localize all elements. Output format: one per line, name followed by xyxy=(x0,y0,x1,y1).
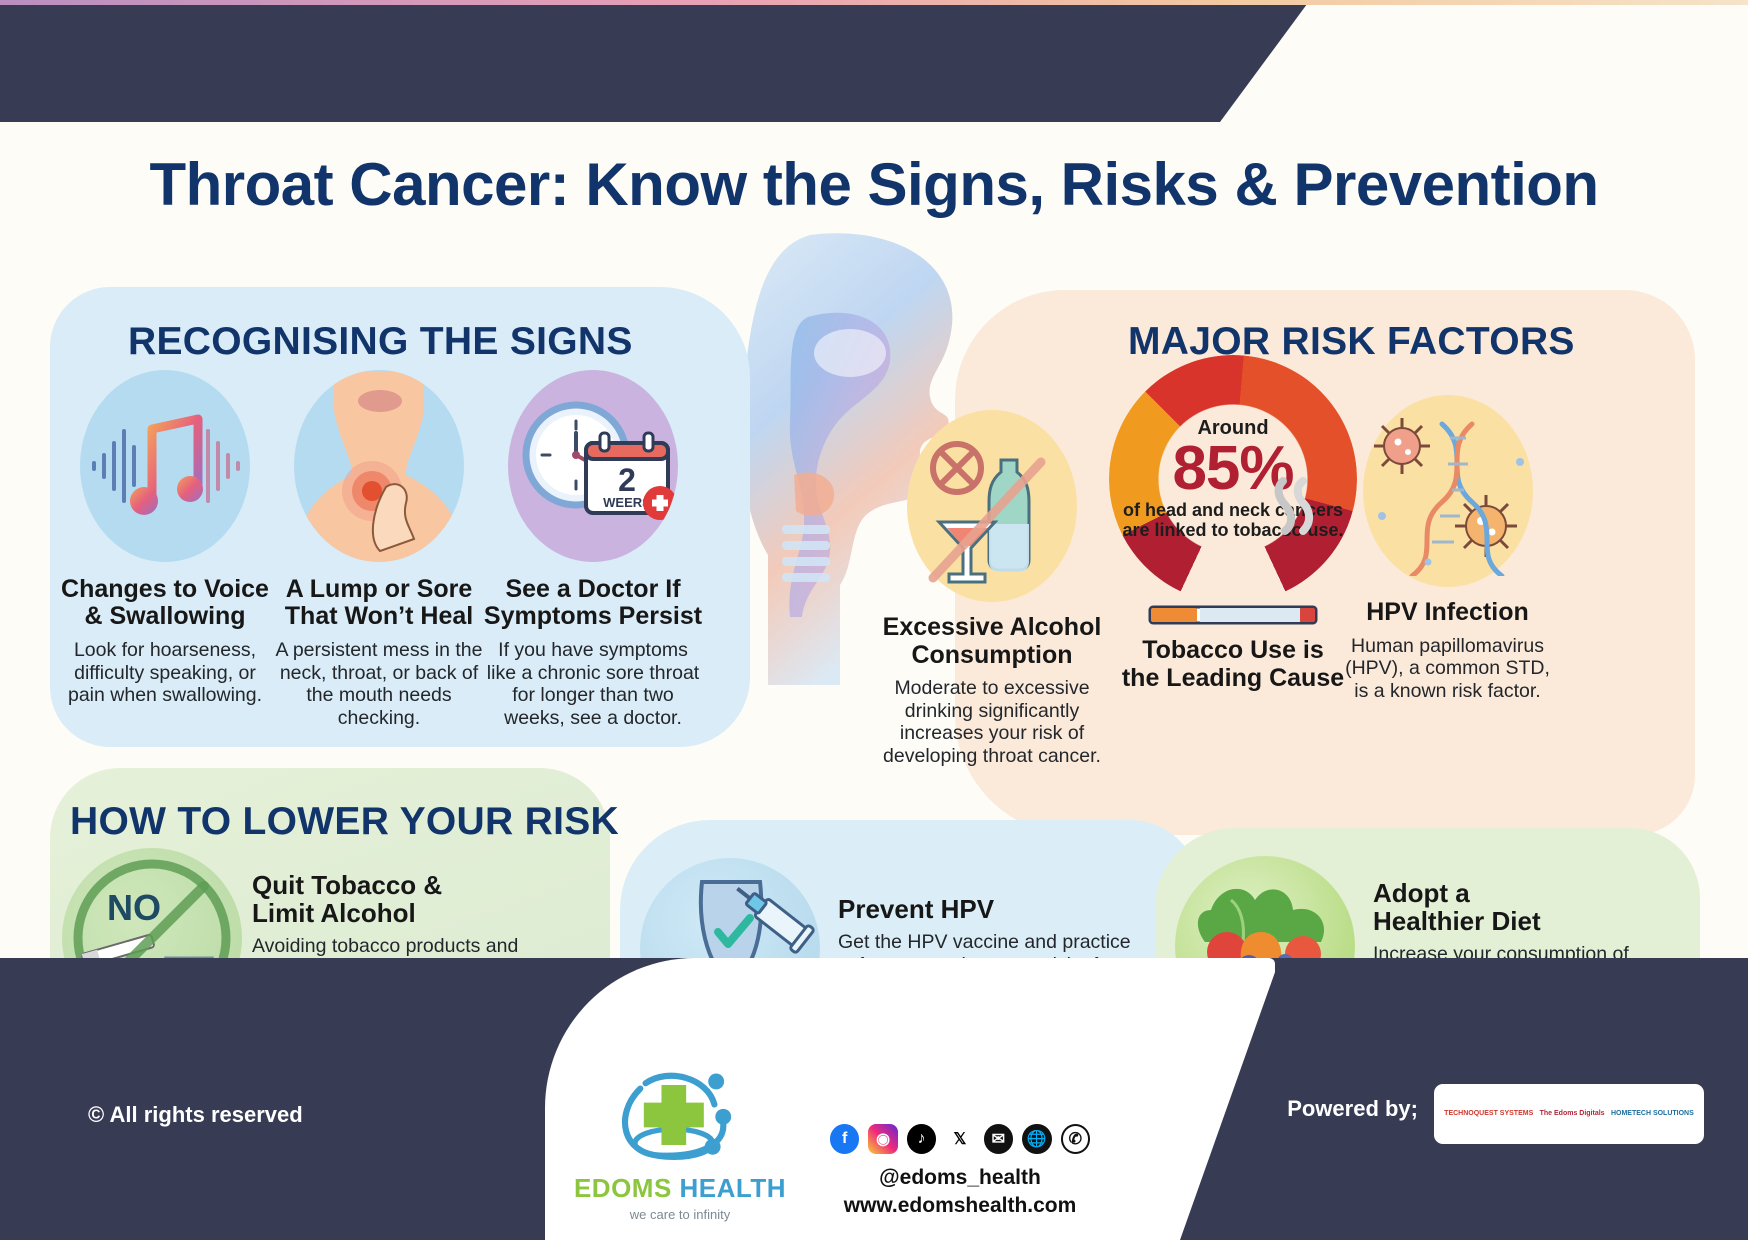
instagram-icon[interactable]: ◉ xyxy=(868,1124,897,1154)
sign-body: If you have symptoms like a chronic sore… xyxy=(482,639,704,729)
risk-title: Tobacco Use is the Leading Cause xyxy=(1108,637,1358,692)
sign-card-voice: Changes to Voice & Swallowing Look for h… xyxy=(54,370,276,707)
logo-tagline: we care to infinity xyxy=(565,1207,795,1222)
lower-risk-title: Prevent HPV xyxy=(838,895,1138,923)
logo-mark xyxy=(605,1062,755,1168)
email-icon[interactable]: ✉ xyxy=(984,1124,1013,1154)
powered-by-label: Powered by; xyxy=(1287,1096,1418,1122)
neck-lump-pointing-finger-icon xyxy=(294,370,464,562)
lower-risk-heading: HOW TO LOWER YOUR RISK xyxy=(70,800,619,844)
social-handle[interactable]: @edoms_health xyxy=(790,1166,1130,1190)
social-handles: @edoms_health www.edomshealth.com xyxy=(790,1166,1130,1218)
recognising-signs-heading: RECOGNISING THE SIGNS xyxy=(128,320,633,364)
svg-text:NO: NO xyxy=(107,887,161,928)
clock-calendar-icon: 2 WEERS xyxy=(508,370,678,562)
logo-wordmark: EDOMS HEALTH xyxy=(565,1173,795,1204)
risk-title: Excessive Alcohol Consumption xyxy=(872,614,1112,669)
svg-text:2: 2 xyxy=(618,462,636,498)
sign-body: Look for hoarseness, difficulty speaking… xyxy=(54,639,276,707)
cigarette-smoke-icon xyxy=(1109,355,1357,603)
sign-card-lump: A Lump or Sore That Won’t Heal A persist… xyxy=(268,370,490,729)
sign-title: See a Doctor If Symptoms Persist xyxy=(482,576,704,630)
sign-card-doctor: 2 WEERS See a Doctor If Symptoms Persist… xyxy=(482,370,704,729)
risk-card-alcohol: Excessive Alcohol Consumption Moderate t… xyxy=(872,410,1112,767)
sign-title: A Lump or Sore That Won’t Heal xyxy=(268,576,490,630)
sign-body: A persistent mess in the neck, throat, o… xyxy=(268,639,490,729)
x-twitter-icon[interactable]: 𝕏 xyxy=(945,1124,974,1154)
cigarette-icon xyxy=(1148,603,1318,627)
partner-logo-3: HOMETECH SOLUTIONS xyxy=(1611,1110,1694,1118)
website-globe-icon[interactable]: 🌐 xyxy=(1022,1124,1051,1154)
risk-body: Human papillomavirus (HPV), a common STD… xyxy=(1340,635,1555,703)
social-icons-row: f ◉ ♪ 𝕏 ✉ 🌐 ✆ xyxy=(830,1124,1090,1154)
edoms-health-logo: EDOMS HEALTH we care to infinity xyxy=(565,1062,795,1222)
risk-body: Moderate to excessive drinking significa… xyxy=(872,677,1112,767)
tobacco-donut-chart: Around 85% of head and neck cancers are … xyxy=(1109,355,1357,603)
lower-risk-title: Quit Tobacco & Limit Alcohol xyxy=(252,871,542,927)
risk-card-hpv: HPV Infection Human papillomavirus (HPV)… xyxy=(1340,395,1555,702)
partner-logo-1: TECHNOQUEST SYSTEMS xyxy=(1444,1110,1533,1118)
website-url[interactable]: www.edomshealth.com xyxy=(790,1194,1130,1218)
whatsapp-icon[interactable]: ✆ xyxy=(1061,1124,1091,1154)
header-gradient-line xyxy=(0,0,1748,5)
voice-waveform-music-note-icon xyxy=(80,370,250,562)
risk-card-tobacco: Around 85% of head and neck cancers are … xyxy=(1108,355,1358,700)
copyright-text: © All rights reserved xyxy=(88,1102,303,1128)
partner-logo-2: The Edoms Digitals xyxy=(1540,1110,1605,1118)
page-title: Throat Cancer: Know the Signs, Risks & P… xyxy=(0,150,1748,219)
lower-risk-title: Adopt a Healthier Diet xyxy=(1373,879,1663,935)
tiktok-icon[interactable]: ♪ xyxy=(907,1124,936,1154)
facebook-icon[interactable]: f xyxy=(830,1124,859,1154)
sign-title: Changes to Voice & Swallowing xyxy=(54,576,276,630)
no-alcohol-icon xyxy=(907,410,1077,602)
risk-title: HPV Infection xyxy=(1340,599,1555,627)
virus-dna-icon xyxy=(1363,395,1533,587)
partner-logos: TECHNOQUEST SYSTEMS The Edoms Digitals H… xyxy=(1434,1084,1704,1144)
